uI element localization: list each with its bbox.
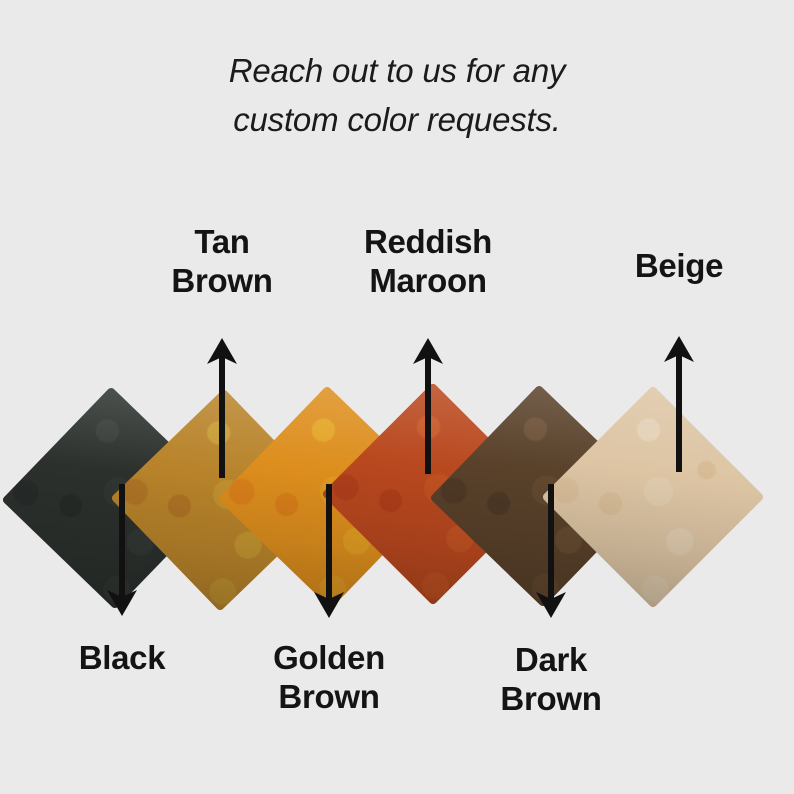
label-beige: Beige <box>579 246 779 285</box>
color-swatch-infographic: Reach out to us for any custom color req… <box>0 0 794 794</box>
label-reddish-maroon: Reddish Maroon <box>328 222 528 300</box>
label-black: Black <box>22 638 222 677</box>
label-dark-brown: Dark Brown <box>451 640 651 718</box>
label-tan-brown: Tan Brown <box>122 222 322 300</box>
label-golden-brown: Golden Brown <box>229 638 429 716</box>
